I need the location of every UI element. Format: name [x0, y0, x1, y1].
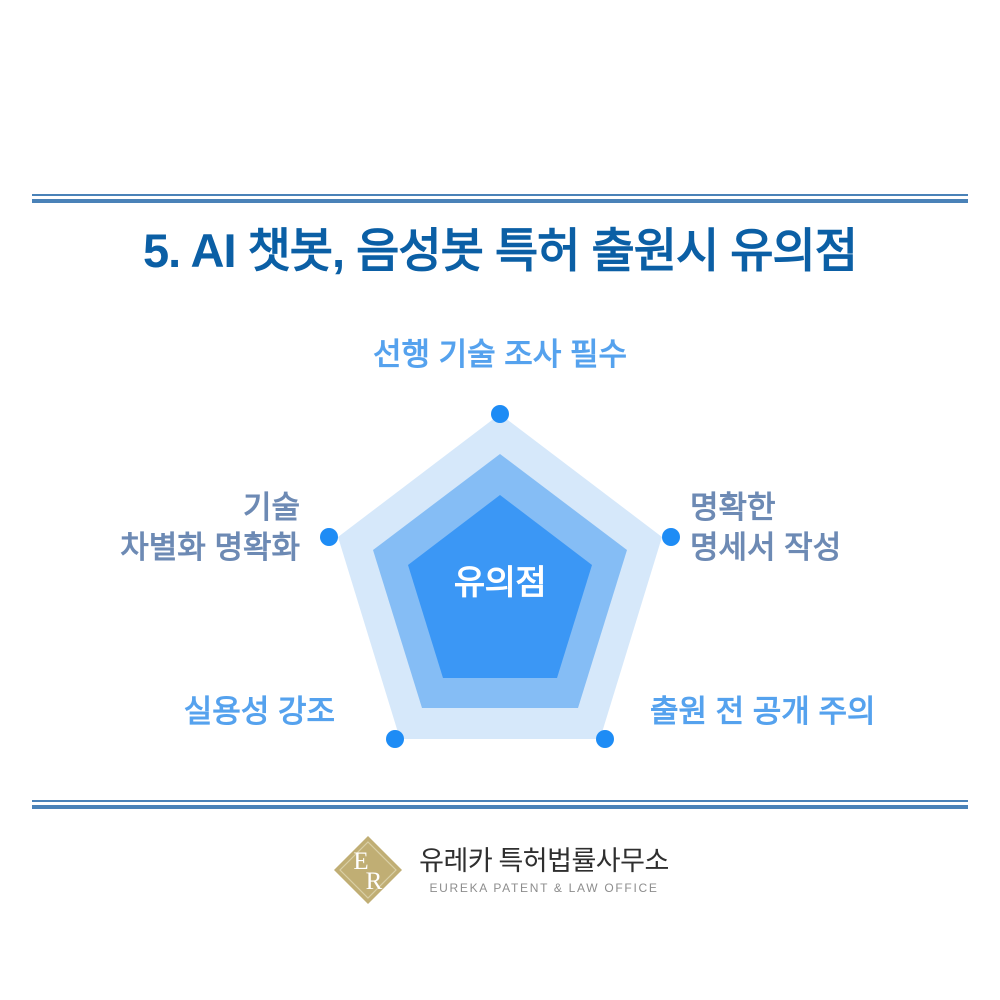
diagram-node-label-left: 기술 차별화 명확화 [35, 488, 300, 567]
footer-logo: E R 유레카 특허법률사무소 EUREKA PATENT & LAW OFFI… [0, 833, 1000, 907]
company-name-en: EUREKA PATENT & LAW OFFICE [429, 881, 658, 895]
diagram-node-label-bottom-left: 실용성 강조 [40, 692, 335, 732]
divider-bottom [32, 800, 968, 809]
company-name-ko: 유레카 특허법률사무소 [419, 847, 669, 877]
logo-monogram-r: R [366, 868, 383, 895]
vertex-dot-bottom-left [386, 730, 404, 748]
divider-top-thick-rule [32, 199, 968, 203]
logo-diamond-icon: E R [331, 833, 405, 907]
vertex-dot-right [662, 528, 680, 546]
divider-top [32, 194, 968, 203]
pentagon-center-label: 유의점 [400, 555, 600, 604]
logo-text-block: 유레카 특허법률사무소 EUREKA PATENT & LAW OFFICE [419, 845, 669, 896]
pentagon-diagram: 유의점 선행 기술 조사 필수 명확한 명세서 작성 출원 전 공개 주의 실용… [0, 310, 1000, 790]
vertex-dot-top [491, 405, 509, 423]
page-title: 5. AI 챗봇, 음성봇 특허 출원시 유의점 [0, 222, 1000, 281]
diagram-node-label-bottom-right: 출원 전 공개 주의 [650, 692, 950, 732]
diagram-node-label-right: 명확한 명세서 작성 [690, 488, 950, 567]
diagram-node-label-top: 선행 기술 조사 필수 [250, 335, 750, 375]
divider-bottom-thick-rule [32, 805, 968, 809]
vertex-dot-left [320, 528, 338, 546]
vertex-dot-bottom-right [596, 730, 614, 748]
